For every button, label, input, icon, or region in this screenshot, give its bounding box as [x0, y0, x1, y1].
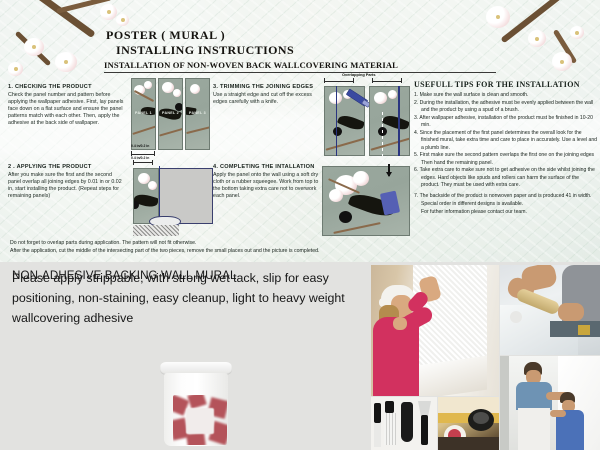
promo-block: NON-ADHESIVE BACKING WALL MURAL Please a…: [12, 268, 364, 328]
step-3-block: 3. TRIMMING THE JOINING EDGES Use a stra…: [213, 84, 317, 106]
useful-tips-block: USEFULL TIPS FOR THE INSTALLATION 1. Mak…: [414, 80, 598, 217]
step-3-heading: 3. TRIMMING THE JOINING EDGES: [213, 84, 317, 90]
step-2-heading: 2 . APPLYING THE PRODUCT: [8, 164, 126, 170]
photo-tools-on-table: [438, 397, 499, 450]
step-2-body: After you make sure the first and the se…: [8, 172, 126, 200]
step-2-floor-hatch: [133, 225, 179, 236]
tip-item: 1. Make sure the wall surface is clean a…: [414, 92, 598, 99]
panel-1-label: PANEL 1: [135, 111, 152, 115]
tip-item: Special order in different designs is av…: [414, 201, 598, 208]
poster-instruction-sheet: POSTER ( MURAL ) INSTALLING INSTRUCTIONS…: [0, 0, 600, 450]
tip-item: 5. First make sure the second pattern ov…: [414, 152, 598, 167]
tips-heading: USEFULL TIPS FOR THE INSTALLATION: [414, 80, 598, 89]
bucket-label-wrap: [173, 395, 227, 445]
step-4-block: 4. COMPLETING THE INTALLATION Apply the …: [213, 164, 319, 200]
measure-label-2: 0.4 in/0.2 in: [131, 156, 149, 160]
title-line-2: INSTALLING INSTRUCTIONS: [106, 43, 406, 58]
photo-tool-set: [371, 397, 437, 450]
cut-line-dashed: [382, 112, 383, 156]
photo-man-and-child: [500, 356, 600, 450]
panel-2: PANEL 2: [158, 78, 183, 150]
overlap-label: Overlapping Parts: [342, 72, 376, 77]
straight-edge-icon: [398, 86, 400, 156]
step-1-block: 1. CHECKING THE PRODUCT Check the panel …: [8, 84, 126, 127]
panel-1: PANEL 1: [131, 78, 156, 150]
adhesive-bucket-photo: [160, 362, 232, 446]
promo-heading: NON-ADHESIVE BACKING WALL MURAL: [12, 268, 237, 284]
bucket-label-plate: [186, 408, 214, 434]
step-3-diagram: Overlapping Parts: [322, 72, 412, 160]
step-1-heading: 1. CHECKING THE PRODUCT: [8, 84, 126, 90]
title-line-1: POSTER ( MURAL ): [106, 28, 406, 43]
step-4-body: Apply the panel onto the wall using a so…: [213, 172, 319, 200]
tip-item: 2. During the installation, the adhesive…: [414, 100, 598, 115]
panel-2-label: PANEL 2: [162, 111, 179, 115]
measure-label: 0.4 in/0.2 in: [131, 144, 149, 148]
page-title: POSTER ( MURAL ) INSTALLING INSTRUCTIONS: [106, 28, 406, 58]
photo-woman-hanging-wallpaper: [371, 265, 499, 396]
step-3-body: Use a straight edge and cut off the exce…: [213, 92, 317, 106]
tip-item: For futher information please contact ou…: [414, 209, 598, 216]
bucket-body: [164, 373, 228, 446]
step-1-body: Check the panel number and pattern befor…: [8, 92, 126, 127]
subtitle: INSTALLATION OF NON-WOVEN BACK WALLCOVER…: [104, 60, 496, 73]
tip-item: 4. Since the placement of the first pane…: [414, 130, 598, 152]
step-2-diagram: 0.4 in/0.2 in: [131, 160, 215, 238]
photo-roller-application: [500, 265, 600, 355]
step-2-block: 2 . APPLYING THE PRODUCT After you make …: [8, 164, 126, 200]
panel-3-label: PANEL 3: [189, 111, 206, 115]
tip-item: 6. Take extra care to make sure not to g…: [414, 167, 598, 189]
panel-3: PANEL 3: [185, 78, 210, 150]
note-line-1: Do not forget to overlap parts during ap…: [10, 239, 590, 247]
step-1-diagram: PANEL 1 PANEL 2 PANEL 3 0.4 in/0.2 in: [131, 78, 213, 158]
tips-list: 1. Make sure the wall surface is clean a…: [414, 92, 598, 216]
tip-item: 3. After wallpaper adhesive, installatio…: [414, 115, 598, 130]
tip-item: 7. The backside of the product is nonwov…: [414, 193, 598, 200]
note-line-2: After the application, cut the middle of…: [10, 247, 590, 255]
step-3-panel-right: [369, 86, 410, 156]
step-4-diagram: [322, 162, 412, 238]
sheet-footer-notes: Do not forget to overlap parts during ap…: [10, 239, 590, 256]
photo-collage: [371, 265, 600, 450]
step-2-mural-strip: [133, 168, 159, 224]
step-4-heading: 4. COMPLETING THE INTALLATION: [213, 164, 319, 170]
